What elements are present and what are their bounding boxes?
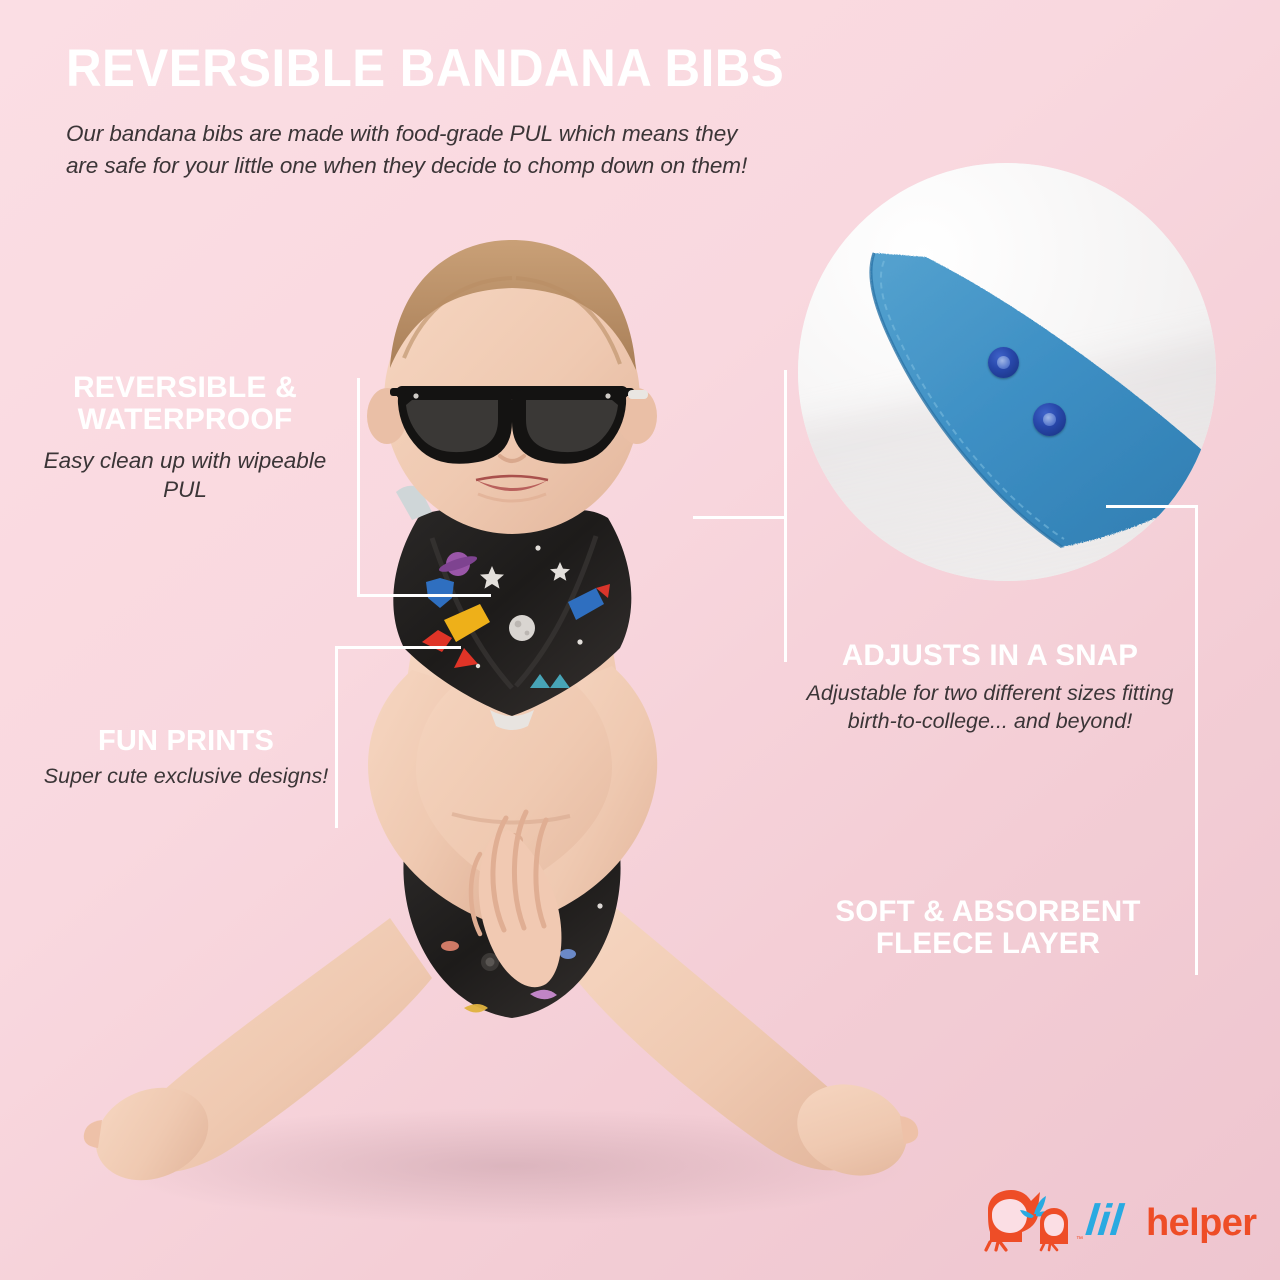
callout-adjusts-heading: ADJUSTS IN A SNAP xyxy=(790,640,1190,672)
callout-adjusts-in-a-snap: ADJUSTS IN A SNAP Adjustable for two dif… xyxy=(790,640,1190,736)
callout-reversible-body: Easy clean up with wipeable PUL xyxy=(20,446,350,505)
connector-fleece-horizontal xyxy=(1106,505,1198,508)
connector-snap-horizontal xyxy=(693,516,786,519)
infographic-canvas: REVERSIBLE BANDANA BIBS Our bandana bibs… xyxy=(0,0,1280,1280)
callout-reversible: REVERSIBLE & WATERPROOF Easy clean up wi… xyxy=(20,372,350,504)
callout-soft-absorbent-heading: SOFT & ABSORBENT FLEECE LAYER xyxy=(790,896,1186,960)
connector-snap-vertical xyxy=(784,370,787,662)
connector-fleece-vertical xyxy=(1195,505,1198,975)
logo-trademark: ™ xyxy=(1076,1236,1083,1243)
callout-adjusts-body: Adjustable for two different sizes fitti… xyxy=(790,680,1190,736)
connector-reversible-horizontal xyxy=(357,594,491,597)
logo-word-lil: lil xyxy=(1083,1196,1125,1246)
lil-helper-birds-icon xyxy=(978,1186,1090,1258)
page-title: REVERSIBLE BANDANA BIBS xyxy=(66,42,784,95)
callout-reversible-heading: REVERSIBLE & WATERPROOF xyxy=(20,372,350,437)
connector-funprints-horizontal xyxy=(335,646,461,649)
connector-reversible-vertical xyxy=(357,378,360,596)
connector-funprints-vertical xyxy=(335,646,338,828)
page-subtitle: Our bandana bibs are made with food-grad… xyxy=(66,118,766,182)
snap-detail-inset xyxy=(798,163,1216,581)
callout-fun-prints: FUN PRINTS Super cute exclusive designs! xyxy=(40,726,332,791)
snap-button-bottom xyxy=(1033,403,1066,436)
logo-word-helper: helper xyxy=(1146,1202,1256,1245)
brand-logo[interactable]: lil helper ™ xyxy=(978,1186,1230,1258)
callout-soft-absorbent: SOFT & ABSORBENT FLEECE LAYER xyxy=(790,896,1186,960)
callout-fun-prints-heading: FUN PRINTS xyxy=(40,726,332,757)
snap-button-top xyxy=(988,347,1019,378)
blue-fleece-bib-corner xyxy=(856,235,1216,565)
callout-fun-prints-body: Super cute exclusive designs! xyxy=(40,763,332,791)
